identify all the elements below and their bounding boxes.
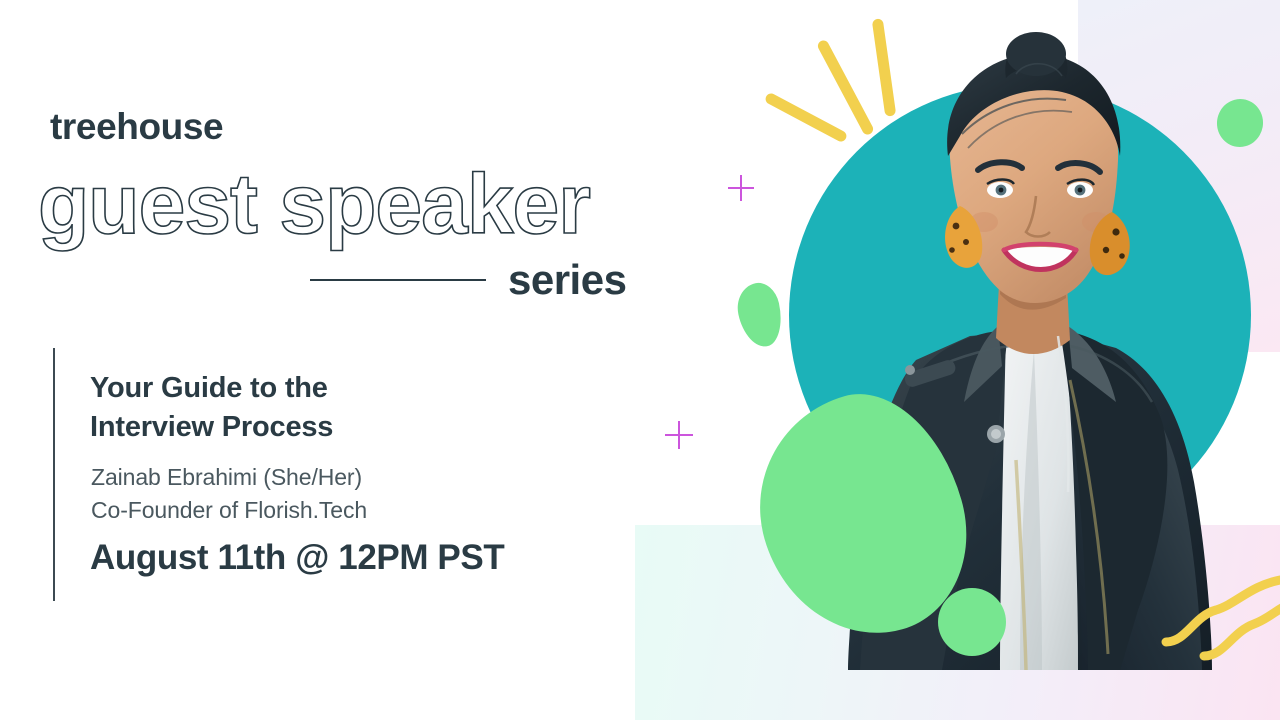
headline-outline: guest speaker [38, 160, 590, 248]
promo-slide: treehouse guest speaker series Your Guid… [0, 0, 1280, 720]
green-bean-blob [733, 279, 787, 350]
green-circle-dot-bottom [938, 588, 1006, 656]
brand-wordmark: treehouse [50, 106, 223, 148]
session-title-line-1: Your Guide to the [90, 369, 333, 408]
session-title-line-2: Interview Process [90, 408, 333, 447]
speaker-block: Zainab Ebrahimi (She/Her) Co-Founder of … [91, 461, 367, 528]
magenta-plus-icon-upper [728, 175, 754, 201]
session-datetime: August 11th @ 12PM PST [90, 538, 504, 578]
yellow-wave-lines [1160, 570, 1280, 680]
speaker-name: Zainab Ebrahimi (She/Her) [91, 461, 367, 494]
vertical-accent-bar [53, 348, 55, 601]
session-title: Your Guide to the Interview Process [90, 369, 333, 446]
series-label: series [508, 256, 626, 304]
series-row: series [310, 256, 626, 304]
magenta-plus-icon-lower [665, 421, 693, 449]
series-divider-rule [310, 279, 486, 281]
speaker-role: Co-Founder of Florish.Tech [91, 494, 367, 527]
